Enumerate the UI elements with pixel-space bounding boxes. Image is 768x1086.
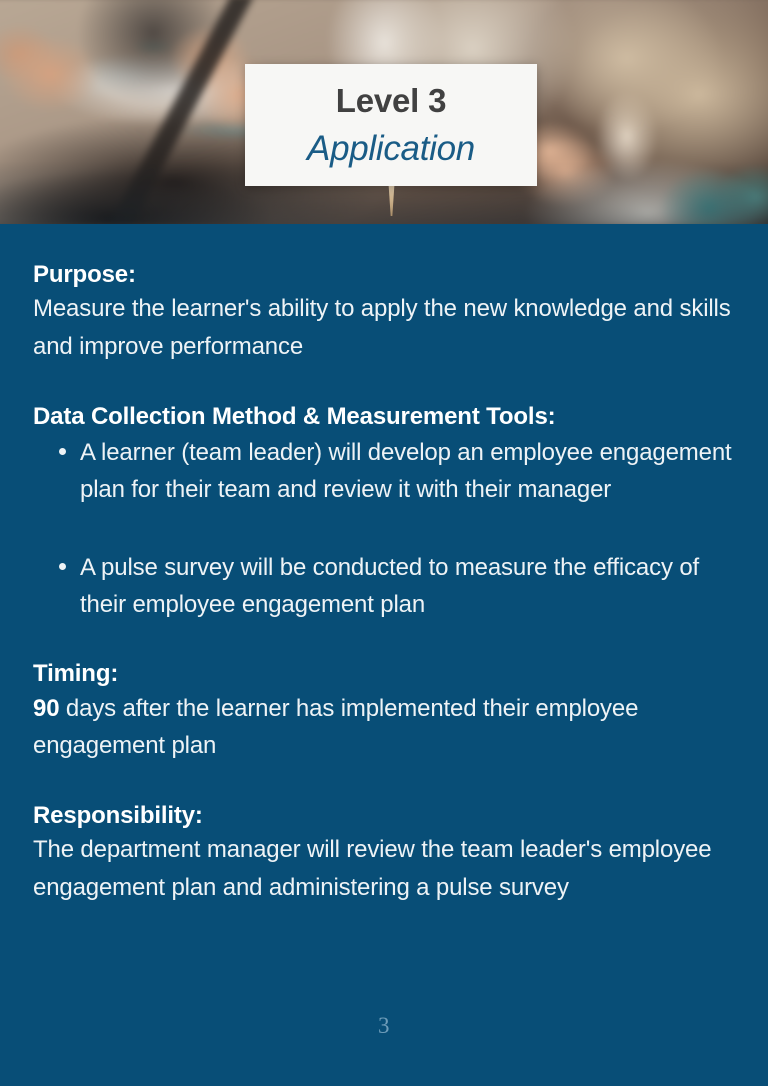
section-heading-data-collection: Data Collection Method & Measurement Too… <box>33 401 734 432</box>
bullet-dot-icon <box>59 563 66 570</box>
spacer <box>33 765 734 800</box>
list-item-text: A learner (team leader) will develop an … <box>80 439 732 503</box>
list-item: A learner (team leader) will develop an … <box>33 434 734 509</box>
level-label: Level 3 <box>336 84 447 119</box>
page-number: 3 <box>0 1013 768 1039</box>
page-root: Level 3 Application Purpose: Measure the… <box>0 0 768 1086</box>
header-banner: Level 3 Application <box>0 0 768 224</box>
spacer <box>33 623 734 658</box>
title-card: Level 3 Application <box>245 64 537 186</box>
bullet-dot-icon <box>59 448 66 455</box>
title-card-wrapper: Level 3 Application <box>245 64 537 186</box>
section-body-responsibility: The department manager will review the t… <box>33 831 734 906</box>
section-body-timing: 90 days after the learner has implemente… <box>33 690 734 765</box>
section-heading-timing: Timing: <box>33 658 734 689</box>
section-data-collection: Data Collection Method & Measurement Too… <box>33 401 734 624</box>
section-body-purpose: Measure the learner's ability to apply t… <box>33 290 734 365</box>
section-heading-purpose: Purpose: <box>33 259 734 290</box>
section-purpose: Purpose: Measure the learner's ability t… <box>33 259 734 366</box>
timing-days-value: 90 <box>33 695 59 722</box>
spacer <box>33 366 734 401</box>
list-item: A pulse survey will be conducted to meas… <box>33 549 734 624</box>
section-timing: Timing: 90 days after the learner has im… <box>33 658 734 765</box>
section-responsibility: Responsibility: The department manager w… <box>33 800 734 907</box>
body-content: Purpose: Measure the learner's ability t… <box>0 224 768 1086</box>
section-heading-responsibility: Responsibility: <box>33 800 734 831</box>
data-collection-bullet-list: A learner (team leader) will develop an … <box>33 434 734 624</box>
level-subtitle: Application <box>307 131 475 168</box>
list-item-text: A pulse survey will be conducted to meas… <box>80 554 699 618</box>
timing-body-rest: days after the learner has implemented t… <box>33 695 638 760</box>
